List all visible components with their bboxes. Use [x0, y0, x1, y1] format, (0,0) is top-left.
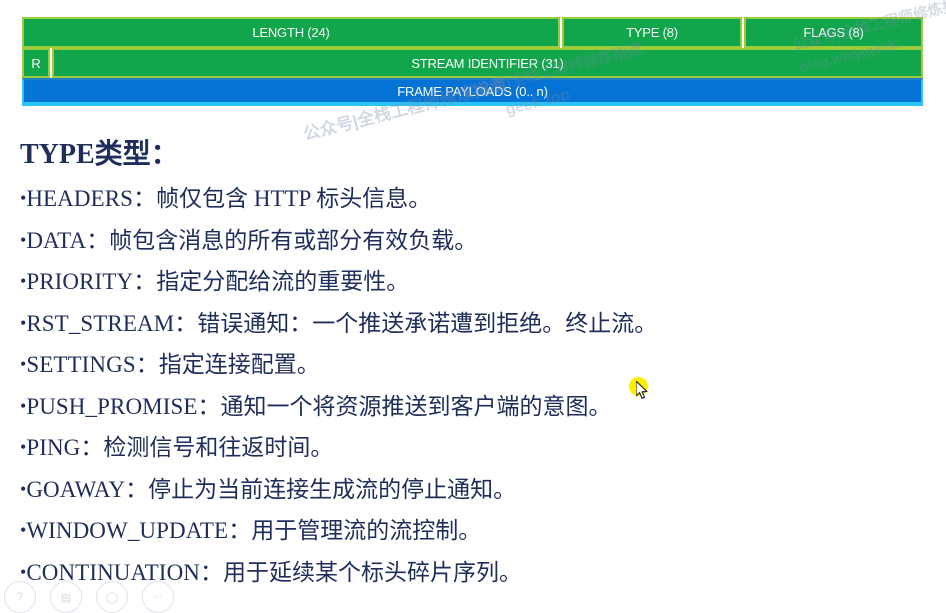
- list-item-term: GOAWAY: [26, 477, 125, 502]
- list-item-separator: ：: [198, 394, 221, 419]
- list-item: •RST_STREAM：错误通知：一个推送承诺遭到拒绝。终止流。: [20, 303, 920, 345]
- frame-row-header: LENGTH (24) TYPE (8) FLAGS (8): [22, 17, 923, 48]
- list-item-description: 停止为当前连接生成流的停止通知。: [148, 477, 516, 502]
- list-item-description: 通知一个将资源推送到客户端的意图。: [221, 394, 612, 419]
- list-item: •PUSH_PROMISE：通知一个将资源推送到客户端的意图。: [20, 386, 920, 428]
- list-item-separator: ：: [125, 477, 148, 502]
- list-item-separator: ：: [136, 352, 159, 377]
- list-item-term: RST_STREAM: [26, 311, 174, 336]
- list-item-term: WINDOW_UPDATE: [26, 518, 228, 543]
- list-item: •GOAWAY：停止为当前连接生成流的停止通知。: [20, 469, 920, 511]
- list-item-description: 错误通知：一个推送承诺遭到拒绝。终止流。: [197, 311, 657, 336]
- list-item: •CONTINUATION：用于延续某个标头碎片序列。: [20, 552, 920, 594]
- list-item-term: CONTINUATION: [26, 560, 200, 585]
- page-title: TYPE类型：: [20, 132, 920, 172]
- list-item-separator: ：: [133, 269, 156, 294]
- list-item-term: DATA: [26, 228, 86, 253]
- list-item-separator: ：: [228, 518, 251, 543]
- frame-cell-flags: FLAGS (8): [744, 17, 923, 48]
- list-item: •PING：检测信号和往返时间。: [20, 427, 920, 469]
- frame-cell-type: TYPE (8): [562, 17, 742, 48]
- list-item-description: 指定分配给流的重要性。: [156, 269, 409, 294]
- list-item-term: HEADERS: [26, 186, 133, 211]
- list-item-description: 用于管理流的流控制。: [251, 518, 481, 543]
- list-item: •PRIORITY：指定分配给流的重要性。: [20, 261, 920, 303]
- list-item-description: 帧仅包含 HTTP 标头信息。: [156, 186, 431, 211]
- frame-row-payload: FRAME PAYLOADS (0.. n): [22, 78, 923, 106]
- list-item-separator: ：: [200, 560, 223, 585]
- list-item: •HEADERS：帧仅包含 HTTP 标头信息。: [20, 178, 920, 220]
- list-item-description: 用于延续某个标头碎片序列。: [223, 560, 522, 585]
- list-item-separator: ：: [133, 186, 156, 211]
- list-item-separator: ：: [80, 435, 103, 460]
- frame-cell-reserved-bit: R: [22, 48, 50, 78]
- list-item: •SETTINGS：指定连接配置。: [20, 344, 920, 386]
- list-item-term: SETTINGS: [26, 352, 135, 377]
- http2-frame-diagram: LENGTH (24) TYPE (8) FLAGS (8) R STREAM …: [22, 17, 923, 106]
- list-item-separator: ：: [174, 311, 197, 336]
- frame-row-stream: R STREAM IDENTIFIER (31): [22, 48, 923, 78]
- list-item-term: PRIORITY: [26, 269, 133, 294]
- list-item-separator: ：: [86, 228, 109, 253]
- frame-cell-frame-payloads: FRAME PAYLOADS (0.. n): [22, 78, 923, 106]
- list-item-description: 指定连接配置。: [159, 352, 320, 377]
- list-item: •WINDOW_UPDATE：用于管理流的流控制。: [20, 510, 920, 552]
- frame-cell-length: LENGTH (24): [22, 17, 560, 48]
- list-item-term: PUSH_PROMISE: [26, 394, 197, 419]
- list-item-term: PING: [26, 435, 80, 460]
- list-item-description: 帧包含消息的所有或部分有效负载。: [109, 228, 477, 253]
- list-item: •DATA：帧包含消息的所有或部分有效负载。: [20, 220, 920, 262]
- type-section: TYPE类型： •HEADERS：帧仅包含 HTTP 标头信息。 •DATA：帧…: [20, 132, 920, 593]
- frame-cell-stream-identifier: STREAM IDENTIFIER (31): [52, 48, 923, 78]
- list-item-description: 检测信号和往返时间。: [103, 435, 333, 460]
